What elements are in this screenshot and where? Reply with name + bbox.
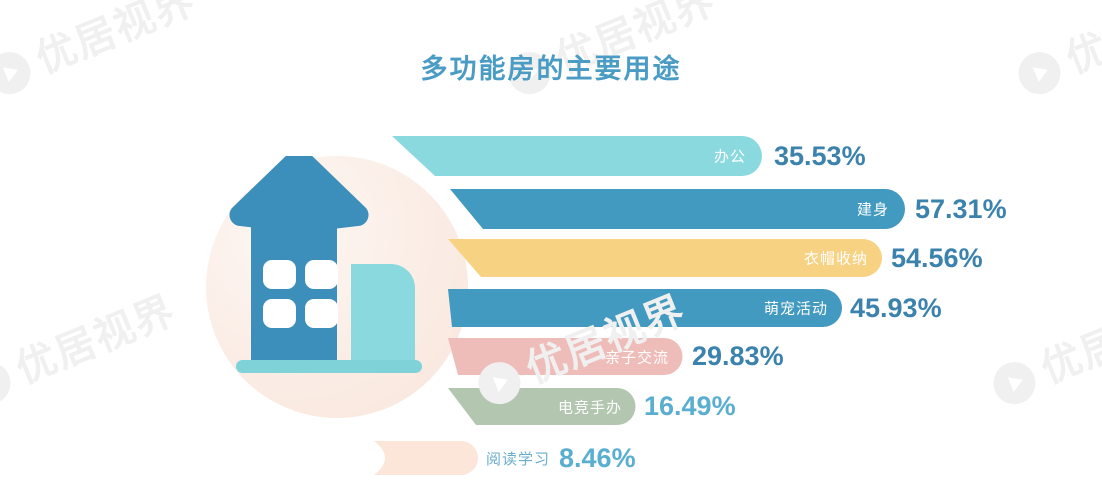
bar-label: 电竞手办: [558, 396, 622, 417]
bar-label: 建身: [857, 199, 889, 220]
chart-row: 办公 35.53%: [392, 136, 866, 176]
bar-label: 亲子交流: [605, 346, 669, 367]
bar-3[interactable]: 萌宠活动: [448, 289, 842, 327]
bar-value: 35.53%: [774, 143, 866, 170]
bar-6[interactable]: [374, 441, 478, 475]
bar-1[interactable]: 建身: [450, 189, 905, 229]
infographic-canvas: 优居视界 优居视界 优居视界 优居视界 优居视界 优居视界: [0, 0, 1102, 504]
bar-label: 阅读学习: [486, 448, 550, 469]
chart-row: 萌宠活动 45.93%: [448, 289, 942, 327]
bar-value: 57.31%: [915, 196, 1007, 223]
bar-value: 8.46%: [559, 445, 636, 472]
bar-shape: [374, 441, 478, 475]
chart-row: 衣帽收纳 54.56%: [448, 239, 983, 277]
bar-label: 办公: [714, 146, 746, 167]
bar-2[interactable]: 衣帽收纳: [448, 239, 882, 277]
chart-row: 建身 57.31%: [450, 189, 1007, 229]
bar-label: 萌宠活动: [764, 298, 828, 319]
bar-value: 54.56%: [891, 245, 983, 272]
bar-0[interactable]: 办公: [392, 136, 762, 176]
chart-row: 电竞手办 16.49%: [448, 388, 736, 425]
bar-value: 45.93%: [850, 295, 942, 322]
chart-row: 亲子交流 29.83%: [448, 338, 784, 375]
bar-4[interactable]: 亲子交流: [448, 338, 683, 375]
bar-5[interactable]: 电竞手办: [448, 388, 636, 425]
bar-shape: [392, 136, 762, 176]
page-title: 多功能房的主要用途: [0, 47, 1102, 86]
bar-label: 衣帽收纳: [804, 248, 868, 269]
chart-row: 阅读学习 8.46%: [374, 441, 636, 475]
bar-value: 29.83%: [692, 343, 784, 370]
bar-value: 16.49%: [644, 393, 736, 420]
bar-shape: [450, 189, 905, 229]
